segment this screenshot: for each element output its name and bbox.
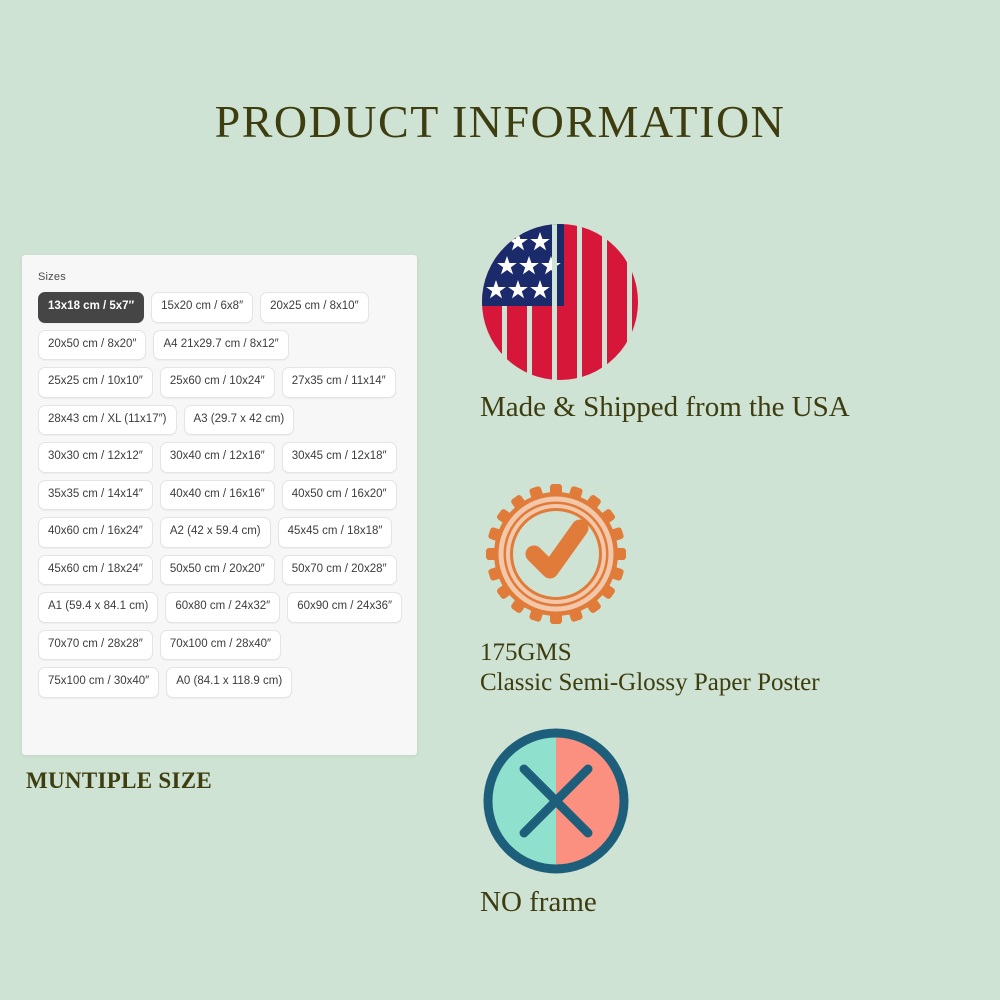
usa-flag-circle-icon	[480, 222, 640, 382]
size-chip[interactable]: 27x35 cm / 11x14″	[282, 367, 396, 398]
seal-badge-holder	[465, 478, 985, 630]
usa-badge-holder	[465, 222, 985, 382]
size-selector-panel: Sizes 13x18 cm / 5x7″15x20 cm / 6x8″20x2…	[22, 255, 417, 755]
size-chip[interactable]: 70x100 cm / 28x40″	[160, 630, 281, 661]
size-chip[interactable]: 28x43 cm / XL (11x17″)	[38, 405, 177, 436]
size-chip[interactable]: 40x60 cm / 16x24″	[38, 517, 153, 548]
no-frame-cross-circle-icon	[480, 725, 632, 877]
size-chip[interactable]: 30x40 cm / 12x16″	[160, 442, 275, 473]
size-chip[interactable]: A3 (29.7 x 42 cm)	[184, 405, 295, 436]
size-chip[interactable]: 50x50 cm / 20x20″	[160, 555, 275, 586]
paper-weight-line: 175GMS	[480, 638, 985, 668]
size-chip[interactable]: A2 (42 x 59.4 cm)	[160, 517, 271, 548]
size-chip[interactable]: 30x30 cm / 12x12″	[38, 442, 153, 473]
paper-caption: 175GMS Classic Semi-Glossy Paper Poster	[480, 638, 985, 697]
size-options-list: 13x18 cm / 5x7″15x20 cm / 6x8″20x25 cm /…	[38, 292, 403, 698]
size-panel-label: Sizes	[38, 271, 403, 283]
size-chip[interactable]: 75x100 cm / 30x40″	[38, 667, 159, 698]
no-frame-badge-holder	[465, 725, 985, 877]
size-chip[interactable]: A1 (59.4 x 84.1 cm)	[38, 592, 158, 623]
feature-paper-quality: 175GMS Classic Semi-Glossy Paper Poster	[465, 478, 985, 697]
orange-check-seal-icon	[480, 478, 632, 630]
size-chip[interactable]: 70x70 cm / 28x28″	[38, 630, 153, 661]
size-chip[interactable]: 50x70 cm / 20x28″	[282, 555, 397, 586]
size-chip[interactable]: A4 21x29.7 cm / 8x12″	[153, 330, 288, 361]
size-chip[interactable]: 20x25 cm / 8x10″	[260, 292, 368, 323]
size-chip[interactable]: 25x25 cm / 10x10″	[38, 367, 153, 398]
size-chip[interactable]: 35x35 cm / 14x14″	[38, 480, 153, 511]
feature-no-frame: NO frame	[465, 725, 985, 919]
size-chip[interactable]: 25x60 cm / 10x24″	[160, 367, 275, 398]
size-chip[interactable]: 45x60 cm / 18x24″	[38, 555, 153, 586]
paper-type-line: Classic Semi-Glossy Paper Poster	[480, 668, 985, 698]
multiple-size-caption: MUNTIPLE SIZE	[26, 768, 212, 794]
size-chip[interactable]: 15x20 cm / 6x8″	[151, 292, 253, 323]
usa-caption: Made & Shipped from the USA	[480, 390, 985, 424]
feature-made-in-usa: Made & Shipped from the USA	[465, 222, 985, 424]
size-chip[interactable]: A0 (84.1 x 118.9 cm)	[166, 667, 292, 698]
size-chip[interactable]: 60x90 cm / 24x36″	[287, 592, 402, 623]
size-chip[interactable]: 13x18 cm / 5x7″	[38, 292, 144, 323]
size-chip[interactable]: 40x40 cm / 16x16″	[160, 480, 275, 511]
size-chip[interactable]: 30x45 cm / 12x18″	[282, 442, 397, 473]
size-chip[interactable]: 60x80 cm / 24x32″	[165, 592, 280, 623]
page-title: PRODUCT INFORMATION	[0, 95, 1000, 148]
size-chip[interactable]: 20x50 cm / 8x20″	[38, 330, 146, 361]
size-chip[interactable]: 45x45 cm / 18x18″	[278, 517, 393, 548]
size-chip[interactable]: 40x50 cm / 16x20″	[282, 480, 397, 511]
no-frame-caption: NO frame	[480, 885, 985, 919]
